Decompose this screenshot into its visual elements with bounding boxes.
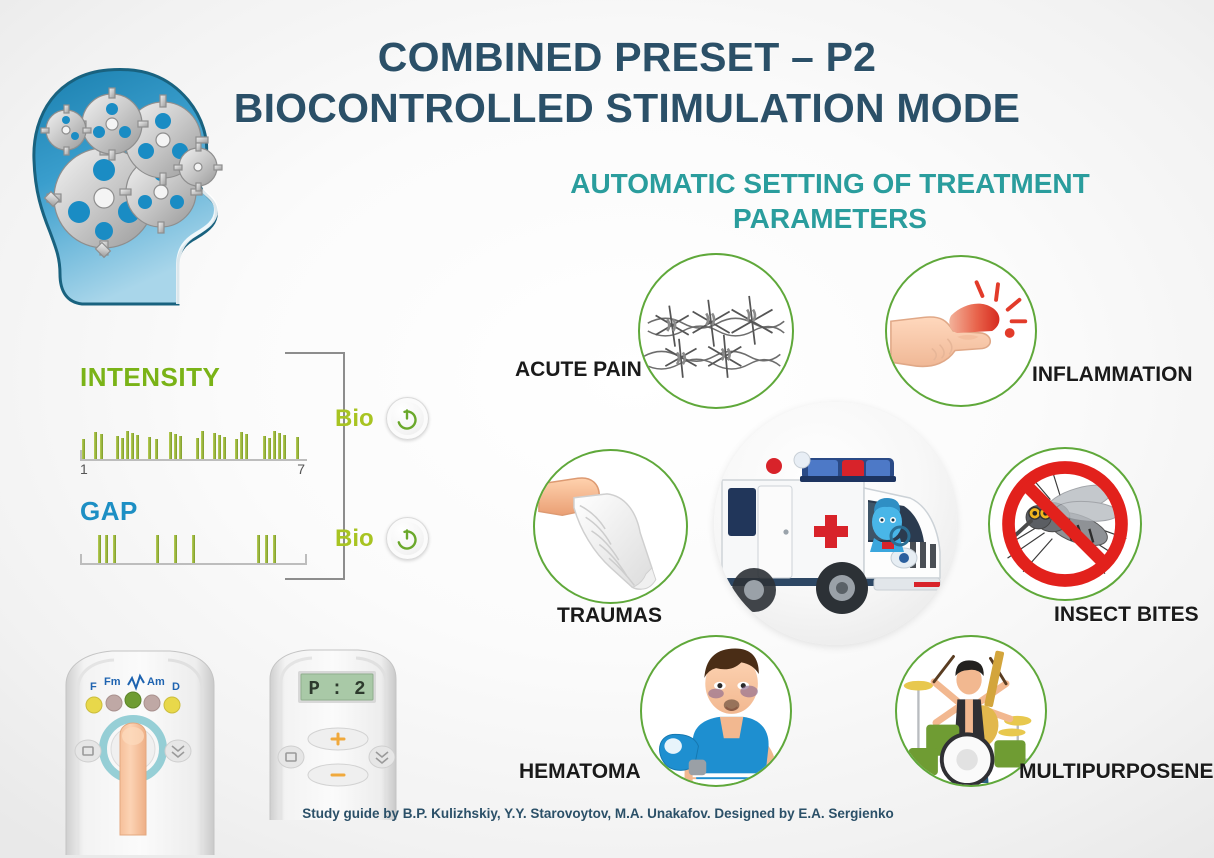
- signal-tick: [196, 438, 199, 459]
- power-icon[interactable]: [386, 397, 429, 440]
- indication-label-insect-bites: INSECT BITES: [1054, 603, 1199, 627]
- signal-tick: [213, 433, 216, 459]
- signal-tick: [273, 431, 276, 459]
- signal-tick: [126, 431, 129, 459]
- signal-tick: [98, 535, 101, 563]
- signal-tick: [257, 535, 260, 563]
- led-label-fm: Fm: [104, 676, 121, 688]
- signal-tick: [113, 535, 116, 563]
- bio-label-gap: Bio: [335, 525, 374, 553]
- indication-circle-traumas[interactable]: [533, 449, 688, 604]
- signal-tick: [100, 434, 103, 459]
- stimulator-with-display[interactable]: P : 2: [258, 645, 406, 820]
- bruise-right: [740, 686, 758, 698]
- signal-tick: [174, 434, 177, 459]
- signal-tick: [268, 438, 271, 459]
- led-label-d: D: [172, 681, 180, 693]
- led-label-f: F: [90, 681, 97, 693]
- title-line-2: BIOCONTROLLED STIMULATION MODE: [0, 82, 1214, 134]
- signal-tick: [121, 438, 124, 459]
- subtitle-line-1: AUTOMATIC SETTING OF TREATMENT: [470, 166, 1190, 201]
- signal-tick: [245, 434, 248, 459]
- mode-icon: [278, 746, 304, 768]
- bio-control-intensity[interactable]: Bio: [335, 397, 429, 440]
- signal-tick: [136, 435, 139, 459]
- page-title: COMBINED PRESET – P2 BIOCONTROLLED STIMU…: [0, 32, 1214, 134]
- signal-tick: [240, 432, 243, 459]
- signal-tick: [155, 439, 158, 459]
- indication-label-hematoma: HEMATOMA: [519, 760, 641, 784]
- intensity-scale-min: 1: [80, 461, 88, 477]
- ambulance-icon[interactable]: [714, 402, 957, 645]
- led-label-am: Am: [147, 676, 165, 688]
- barbed-wire-icon: [640, 253, 792, 409]
- indication-label-multipurposeness: MULTIPURPOSENESS: [1019, 760, 1214, 784]
- infographic-canvas: COMBINED PRESET – P2 BIOCONTROLLED STIMU…: [0, 0, 1214, 858]
- title-line-1: COMBINED PRESET – P2: [0, 32, 1214, 82]
- intensity-scale: 1 7: [80, 461, 307, 479]
- signal-tick: [116, 436, 119, 459]
- led-fm: [106, 695, 122, 711]
- signal-tick: [223, 437, 226, 459]
- credits-line: Study guide by B.P. Kulizhskiy, Y.Y. Sta…: [0, 806, 1214, 821]
- indication-label-traumas: TRAUMAS: [557, 604, 662, 628]
- page-subtitle: AUTOMATIC SETTING OF TREATMENT PARAMETER…: [470, 166, 1190, 236]
- intensity-bars: [80, 423, 307, 459]
- led-am: [144, 695, 160, 711]
- led-wave: [125, 692, 141, 708]
- signal-tick: [273, 535, 276, 563]
- indication-circle-acute-pain[interactable]: [638, 253, 794, 409]
- indication-circle-hematoma[interactable]: [640, 635, 792, 787]
- signal-tick: [265, 535, 268, 563]
- bio-control-gap[interactable]: Bio: [335, 517, 429, 560]
- signal-tick: [218, 435, 221, 459]
- signal-tick: [192, 535, 195, 563]
- signal-tick: [82, 439, 85, 459]
- indication-label-acute-pain: ACUTE PAIN: [515, 358, 642, 382]
- indication-label-inflammation: INFLAMMATION: [1032, 363, 1193, 387]
- signal-tick: [263, 436, 266, 459]
- gap-bars: [80, 527, 307, 563]
- subtitle-line-2: PARAMETERS: [470, 201, 1190, 236]
- signal-tick: [105, 535, 108, 563]
- power-icon[interactable]: [386, 517, 429, 560]
- gap-signal-bar: [80, 527, 307, 575]
- signal-tick: [201, 431, 204, 459]
- mosquito-prohibited-icon: [990, 447, 1140, 601]
- indication-circle-insect-bites[interactable]: [988, 447, 1142, 601]
- snare-drum: [909, 748, 938, 775]
- bruised-boxer-icon: [642, 635, 790, 787]
- bandaged-arm-icon: [535, 449, 686, 604]
- signal-tick: [156, 535, 159, 563]
- signal-tick: [169, 432, 172, 459]
- inflamed-thumb-icon: [887, 255, 1035, 407]
- lcd-value: P : 2: [308, 678, 365, 700]
- bio-label-intensity: Bio: [335, 405, 374, 433]
- signal-tick: [179, 436, 182, 459]
- signal-tick: [131, 433, 134, 459]
- signal-tick: [278, 433, 281, 459]
- intensity-signal-bar: 1 7: [80, 423, 307, 471]
- signal-tick: [174, 535, 177, 563]
- bruise-left: [708, 689, 724, 699]
- signal-tick: [94, 432, 97, 459]
- intensity-label: INTENSITY: [80, 362, 220, 393]
- gap-axis: [80, 563, 307, 565]
- gap-label: GAP: [80, 496, 138, 527]
- led-f: [86, 697, 102, 713]
- led-d: [164, 697, 180, 713]
- signal-tick: [148, 437, 151, 459]
- signal-tick: [235, 439, 238, 459]
- indication-circle-inflammation[interactable]: [885, 255, 1037, 407]
- stimulator-with-finger[interactable]: F Fm Am D: [52, 645, 227, 855]
- mode-icon: [75, 740, 101, 762]
